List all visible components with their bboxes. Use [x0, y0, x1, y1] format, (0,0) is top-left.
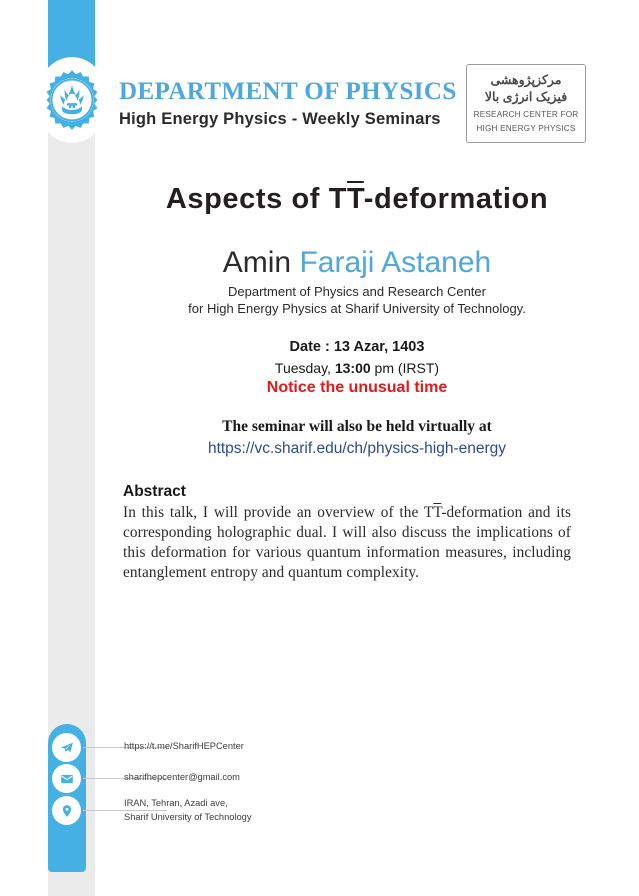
sharif-university-logo [36, 57, 108, 143]
speaker-affiliation: Department of Physics and Research Cente… [95, 283, 619, 317]
speaker-last-name: Faraji Astaneh [299, 246, 491, 279]
speaker-affiliation-line2: for High Energy Physics at Sharif Univer… [95, 300, 619, 317]
contact-address-text: IRAN, Tehran, Azadi ave, Sharif Universi… [124, 796, 251, 824]
research-center-persian-line2: فیزیک انرژی بالا [467, 89, 585, 106]
talk-title-overline-t: T [347, 183, 364, 215]
talk-title: Aspects of TT-deformation [95, 183, 619, 216]
contact-telegram-text: https://t.me/SharifHEPCenter [124, 739, 244, 753]
location-icon[interactable] [52, 796, 81, 825]
seminar-time-value: 13:00 [335, 360, 371, 376]
seminar-time: Tuesday, 13:00 pm (IRST) [95, 360, 619, 376]
contact-address-line1: IRAN, Tehran, Azadi ave, [124, 796, 251, 810]
abstract-part1: In this talk, I will provide an overview… [123, 504, 433, 521]
telegram-icon[interactable] [52, 733, 81, 762]
seminar-day: Tuesday, [275, 360, 331, 376]
unusual-time-notice: Notice the unusual time [95, 379, 619, 397]
left-rail-gray-middle [48, 104, 76, 724]
seminar-date: Date : 13 Azar, 1403 [95, 339, 619, 355]
virtual-attendance-note: The seminar will also be held virtually … [95, 418, 619, 436]
talk-title-suffix: -deformation [364, 183, 548, 215]
virtual-meeting-link[interactable]: https://vc.sharif.edu/ch/physics-high-en… [95, 440, 619, 458]
seminar-series-subtitle: High Energy Physics - Weekly Seminars [119, 110, 441, 129]
research-center-english-line2: HIGH ENERGY PHYSICS [467, 123, 585, 134]
speaker-affiliation-line1: Department of Physics and Research Cente… [95, 283, 619, 300]
talk-title-prefix: Aspects of T [166, 183, 347, 215]
page-title-department: DEPARTMENT OF PHYSICS [119, 78, 457, 106]
research-center-badge: مرکزپژوهشی فیزیک انرژی بالا RESEARCH CEN… [466, 64, 586, 143]
contact-email-text: sharifhepcenter@gmail.com [124, 770, 240, 784]
abstract-heading: Abstract [123, 483, 186, 501]
speaker-first-name: Amin [223, 246, 291, 279]
abstract-body: In this talk, I will provide an overview… [123, 503, 571, 583]
research-center-persian-line1: مرکزپژوهشی [467, 72, 585, 89]
email-icon[interactable] [52, 764, 81, 793]
speaker-name: Amin Faraji Astaneh [95, 246, 619, 280]
contact-address-line2: Sharif University of Technology [124, 810, 251, 824]
seminar-time-zone: pm (IRST) [375, 360, 440, 376]
research-center-english-line1: RESEARCH CENTER FOR [467, 109, 585, 120]
